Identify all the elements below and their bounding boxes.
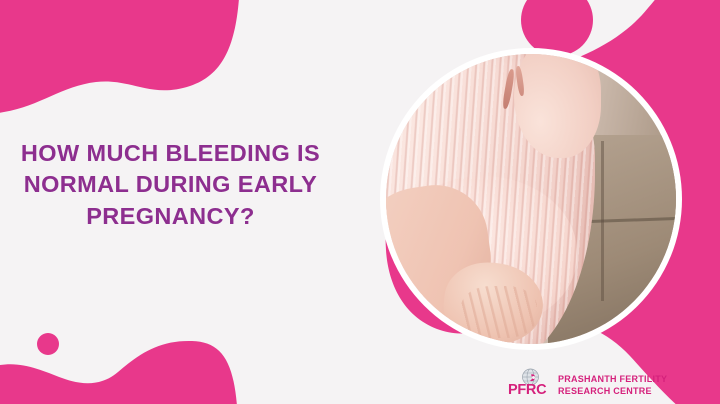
headline-line-3: PREGNANCY? [8, 201, 333, 232]
logo-name-line-2: RESEARCH CENTRE [558, 386, 667, 396]
hero-photo [386, 54, 676, 344]
logo-name: PRASHANTH FERTILITY RESEARCH CENTRE [558, 372, 667, 396]
headline-line-1: HOW MUCH BLEEDING IS [8, 138, 333, 169]
pink-dot-left [37, 333, 59, 355]
photo-scene [386, 54, 676, 344]
photo-fingers [461, 286, 536, 338]
photo-couch-seam-vertical [601, 141, 604, 301]
logo-name-line-1: PRASHANTH FERTILITY [558, 374, 667, 384]
top-left-blob-shape [0, 0, 240, 114]
hero-photo-ring [380, 48, 682, 350]
logo-mark: PFRC [508, 368, 552, 400]
pregnancy-info-banner: HOW MUCH BLEEDING IS NORMAL DURING EARLY… [0, 0, 720, 404]
headline-line-2: NORMAL DURING EARLY [8, 169, 333, 200]
clinic-logo[interactable]: PFRC PRASHANTH FERTILITY RESEARCH CENTRE [508, 368, 667, 400]
logo-wordmark: PFRC [508, 383, 546, 398]
headline: HOW MUCH BLEEDING IS NORMAL DURING EARLY… [8, 138, 333, 232]
bottom-left-blob-shape [0, 341, 238, 404]
